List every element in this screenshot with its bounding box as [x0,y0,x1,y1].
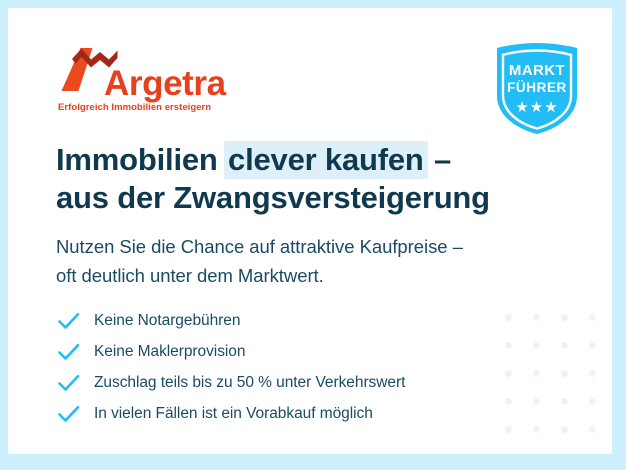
headline-line-1: Immobilien clever kaufen – [56,141,576,179]
marktfuehrer-badge: MARKT FÜHRER ★★★ [489,40,585,136]
headline-highlight: clever kaufen [224,141,428,179]
list-item: Keine Notargebühren [57,305,527,336]
list-item: In vielen Fällen ist ein Vorabkauf mögli… [57,398,527,429]
dot [561,454,568,455]
dot [589,342,596,349]
dot [505,454,512,455]
check-icon [57,342,94,362]
dot [589,398,596,405]
dot [561,426,568,433]
argetra-logo[interactable]: Argetra Erfolgreich Immobilien ersteiger… [56,46,256,118]
dot [533,398,540,405]
list-item-label: In vielen Fällen ist ein Vorabkauf mögli… [94,404,373,424]
list-item: Keine Maklerprovision [57,336,527,367]
dot [589,426,596,433]
dot [533,342,540,349]
headline-text-before: Immobilien [56,142,226,177]
check-icon [57,311,94,331]
subtitle-line-2: oft deutlich unter dem Marktwert. [56,261,556,290]
dot [533,454,540,455]
page-title: Immobilien clever kaufen – aus der Zwang… [56,141,576,217]
dot [533,370,540,377]
check-icon [57,373,94,393]
check-icon [57,404,94,424]
list-item-label: Keine Notargebühren [94,311,240,331]
dot [533,426,540,433]
logo-tagline: Erfolgreich Immobilien ersteigern [58,102,211,113]
advertisement-banner: Argetra Erfolgreich Immobilien ersteiger… [0,0,626,470]
dot [589,454,596,455]
headline-line-2: aus der Zwangsversteigerung [56,179,576,217]
dot [561,314,568,321]
dot [561,398,568,405]
benefit-list: Keine NotargebührenKeine Maklerprovision… [57,305,527,429]
dot [561,370,568,377]
list-item-label: Zuschlag teils bis zu 50 % unter Verkehr… [94,373,405,393]
list-item: Zuschlag teils bis zu 50 % unter Verkehr… [57,367,527,398]
subtitle-line-1: Nutzen Sie die Chance auf attraktive Kau… [56,232,556,261]
banner-card: Argetra Erfolgreich Immobilien ersteiger… [8,8,612,454]
headline-text-after: – [426,142,451,177]
list-item-label: Keine Maklerprovision [94,342,245,362]
subtitle: Nutzen Sie die Chance auf attraktive Kau… [56,232,556,290]
dot [589,370,596,377]
dot [561,342,568,349]
shield-badge-icon [489,123,585,140]
logo-wordmark: Argetra [104,66,226,101]
dot [533,314,540,321]
dot [589,314,596,321]
